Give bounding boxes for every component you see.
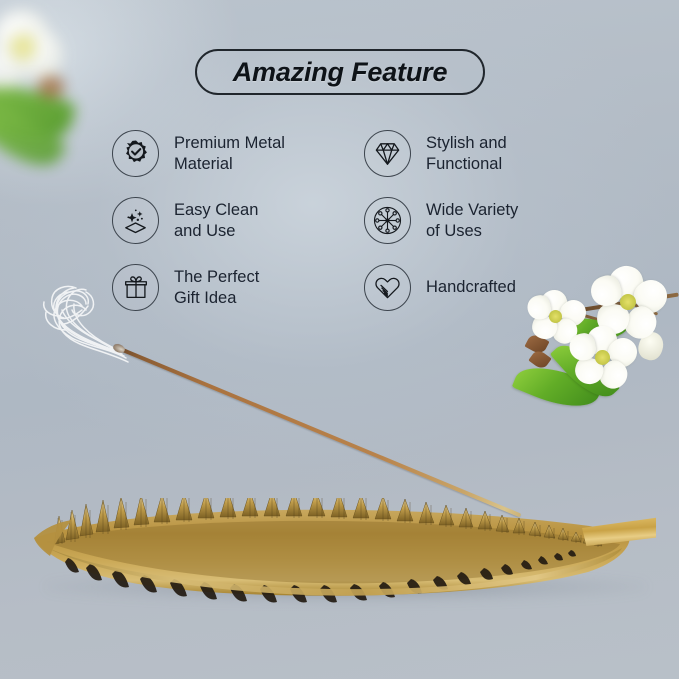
feature-easy-clean-and-use: Easy Clean and Use bbox=[112, 187, 362, 254]
incense-stick bbox=[117, 346, 521, 518]
cherry-blossom-branch bbox=[505, 252, 679, 432]
infographic-canvas: Amazing Feature Premium Metal Material bbox=[0, 0, 679, 679]
page-title: Amazing Feature bbox=[233, 57, 448, 88]
feature-premium-metal-material: Premium Metal Material bbox=[112, 120, 362, 187]
badge-check-icon bbox=[112, 130, 159, 177]
feature-the-perfect-gift-idea: The Perfect Gift Idea bbox=[112, 254, 362, 321]
leaf-incense-holder bbox=[28, 498, 656, 608]
heart-hands-icon bbox=[364, 264, 411, 311]
sparkle-clean-icon bbox=[112, 197, 159, 244]
page-title-pill: Amazing Feature bbox=[195, 49, 485, 95]
feature-label: Premium Metal Material bbox=[174, 133, 285, 174]
feature-label: The Perfect Gift Idea bbox=[174, 267, 259, 308]
feature-label: Stylish and Functional bbox=[426, 133, 507, 174]
feature-label: Handcrafted bbox=[426, 277, 516, 298]
radial-nodes-icon bbox=[364, 197, 411, 244]
feature-label: Easy Clean and Use bbox=[174, 200, 258, 241]
diamond-gem-icon bbox=[364, 130, 411, 177]
feature-wide-variety-of-uses: Wide Variety of Uses bbox=[364, 187, 614, 254]
feature-stylish-and-functional: Stylish and Functional bbox=[364, 120, 614, 187]
feature-column-left: Premium Metal Material Easy Clean and Us… bbox=[112, 120, 362, 321]
holder-body bbox=[28, 498, 656, 608]
feature-label: Wide Variety of Uses bbox=[426, 200, 518, 241]
